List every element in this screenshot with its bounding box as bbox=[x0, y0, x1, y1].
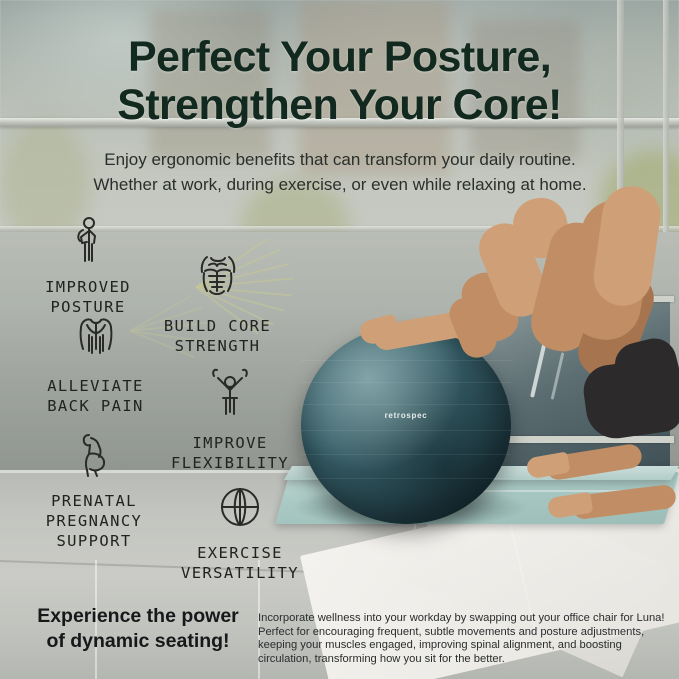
footer-body-copy: Incorporate wellness into your workday b… bbox=[258, 612, 670, 666]
benefit-label-line-1: EXERCISE bbox=[150, 543, 330, 563]
pregnant-figure-icon bbox=[4, 430, 184, 485]
headline-line-1: Perfect Your Posture, bbox=[128, 33, 551, 81]
headline-line-2: Strengthen Your Core! bbox=[0, 81, 679, 129]
tagline-line-1: Experience the power bbox=[37, 605, 239, 627]
ball-brand-logo: retrospec bbox=[301, 411, 511, 420]
tagline-line-2: of dynamic seating! bbox=[46, 630, 229, 652]
footer-tagline: Experience the power of dynamic seating! bbox=[22, 604, 254, 654]
page-headline: Perfect Your Posture, Strengthen Your Co… bbox=[0, 33, 679, 129]
product-marketing-image: retrospec Perfect Your Posture, Strength… bbox=[0, 0, 679, 679]
exercise-ball-icon bbox=[150, 482, 330, 537]
subtitle-text: Enjoy ergonomic benefits that can transf… bbox=[85, 148, 595, 197]
core-abs-torso-icon bbox=[130, 253, 305, 310]
benefit-label-line-2: VERSATILITY bbox=[150, 563, 330, 583]
arms-raised-stretch-icon bbox=[140, 368, 320, 427]
back-spine-icon bbox=[8, 315, 183, 370]
benefit-item-exercise-versatility: EXERCISE VERSATILITY bbox=[150, 482, 330, 583]
